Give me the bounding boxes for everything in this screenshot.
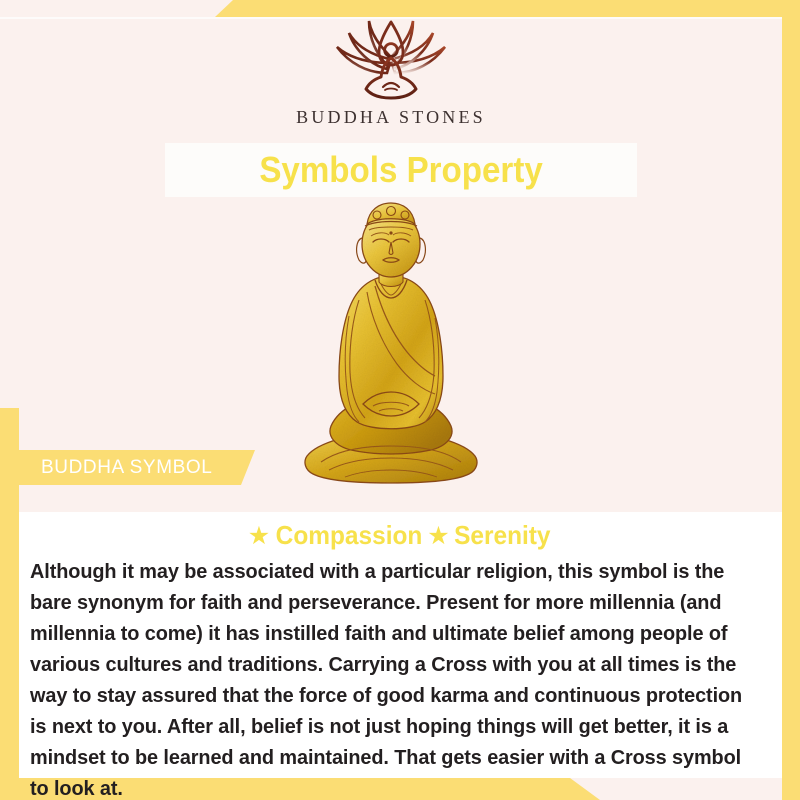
frame-left-yellow-band	[0, 408, 19, 800]
poster-root: BUDDHA STONES Symbols Property	[0, 0, 800, 800]
brand-wordmark: BUDDHA STONES	[296, 107, 486, 128]
subhead-word-compassion: Compassion	[276, 520, 423, 551]
title-plaque: Symbols Property	[165, 143, 637, 197]
section-ribbon-label: BUDDHA SYMBOL	[19, 457, 212, 479]
subhead-word-serenity: Serenity	[454, 520, 550, 551]
page-title: Symbols Property	[259, 149, 542, 191]
golden-seated-buddha-image	[301, 200, 481, 500]
frame-top-yellow-band	[215, 0, 800, 17]
lotus-meditation-icon	[327, 19, 455, 105]
star-icon-1: ★	[248, 524, 270, 549]
body-paragraph: Although it may be associated with a par…	[30, 556, 748, 800]
brand-header: BUDDHA STONES	[0, 19, 782, 137]
star-icon-2: ★	[427, 524, 449, 549]
subheading: ★ Compassion ★ Serenity	[19, 513, 782, 557]
section-ribbon: BUDDHA SYMBOL	[19, 450, 255, 485]
frame-right-yellow-band	[782, 0, 800, 800]
